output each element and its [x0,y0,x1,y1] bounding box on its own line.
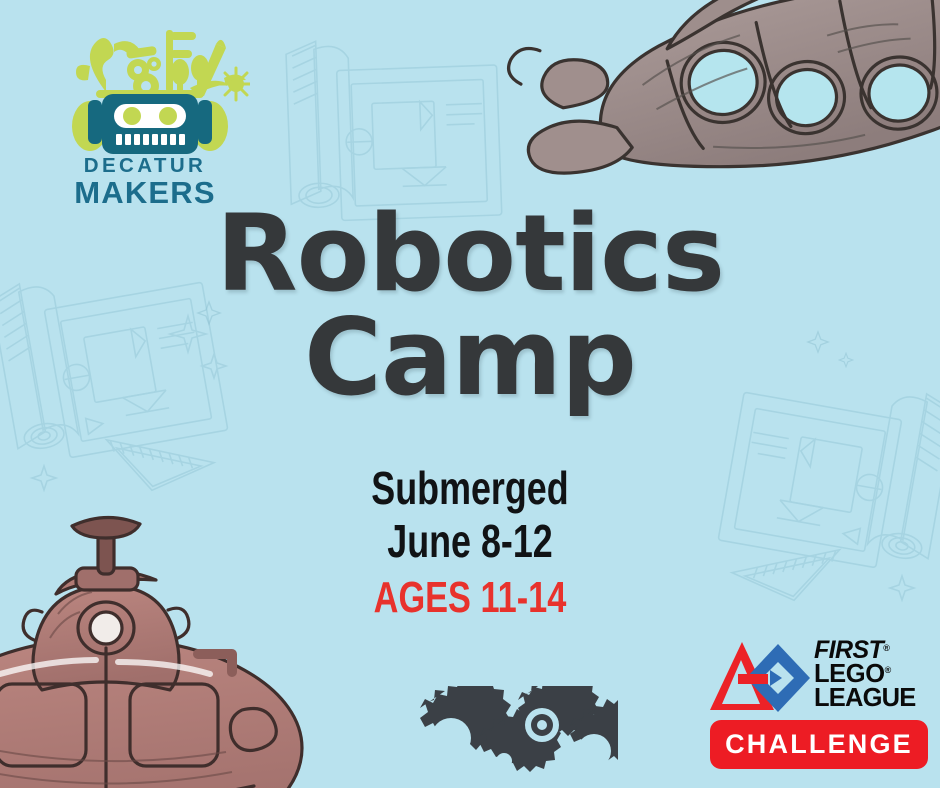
decatur-makers-logo: DECATUR MAKERS [40,26,250,208]
event-theme: Submerged [103,462,836,515]
maker-robot-head-icon [40,26,250,166]
fll-league-text: LEAGUE [814,686,915,710]
first-lego-league-logo-icon [708,640,812,716]
headline-line2: Camp [0,306,940,410]
first-lego-league-wordmark: FIRST® LEGO® LEAGUE [814,638,915,711]
event-dates: June 8-12 [103,515,836,568]
fll-first-text: FIRST® [814,638,915,662]
event-details: Submerged June 8-12 AGES 11-14 [0,462,940,623]
page-title: Robotics Camp [0,202,940,410]
event-ages: AGES 11-14 [103,572,836,623]
fll-challenge-badge: CHALLENGE [710,720,928,769]
brand-name-line1: DECATUR [40,156,250,177]
headline-line1: Robotics [0,202,940,306]
first-lego-league-logo: FIRST® LEGO® LEAGUE CHALLENGE [708,640,928,772]
poster-canvas: DECATUR MAKERS Robotics Camp Submerged J… [0,0,940,788]
gears-icon [378,686,618,788]
fll-lego-text: LEGO® [814,662,915,686]
